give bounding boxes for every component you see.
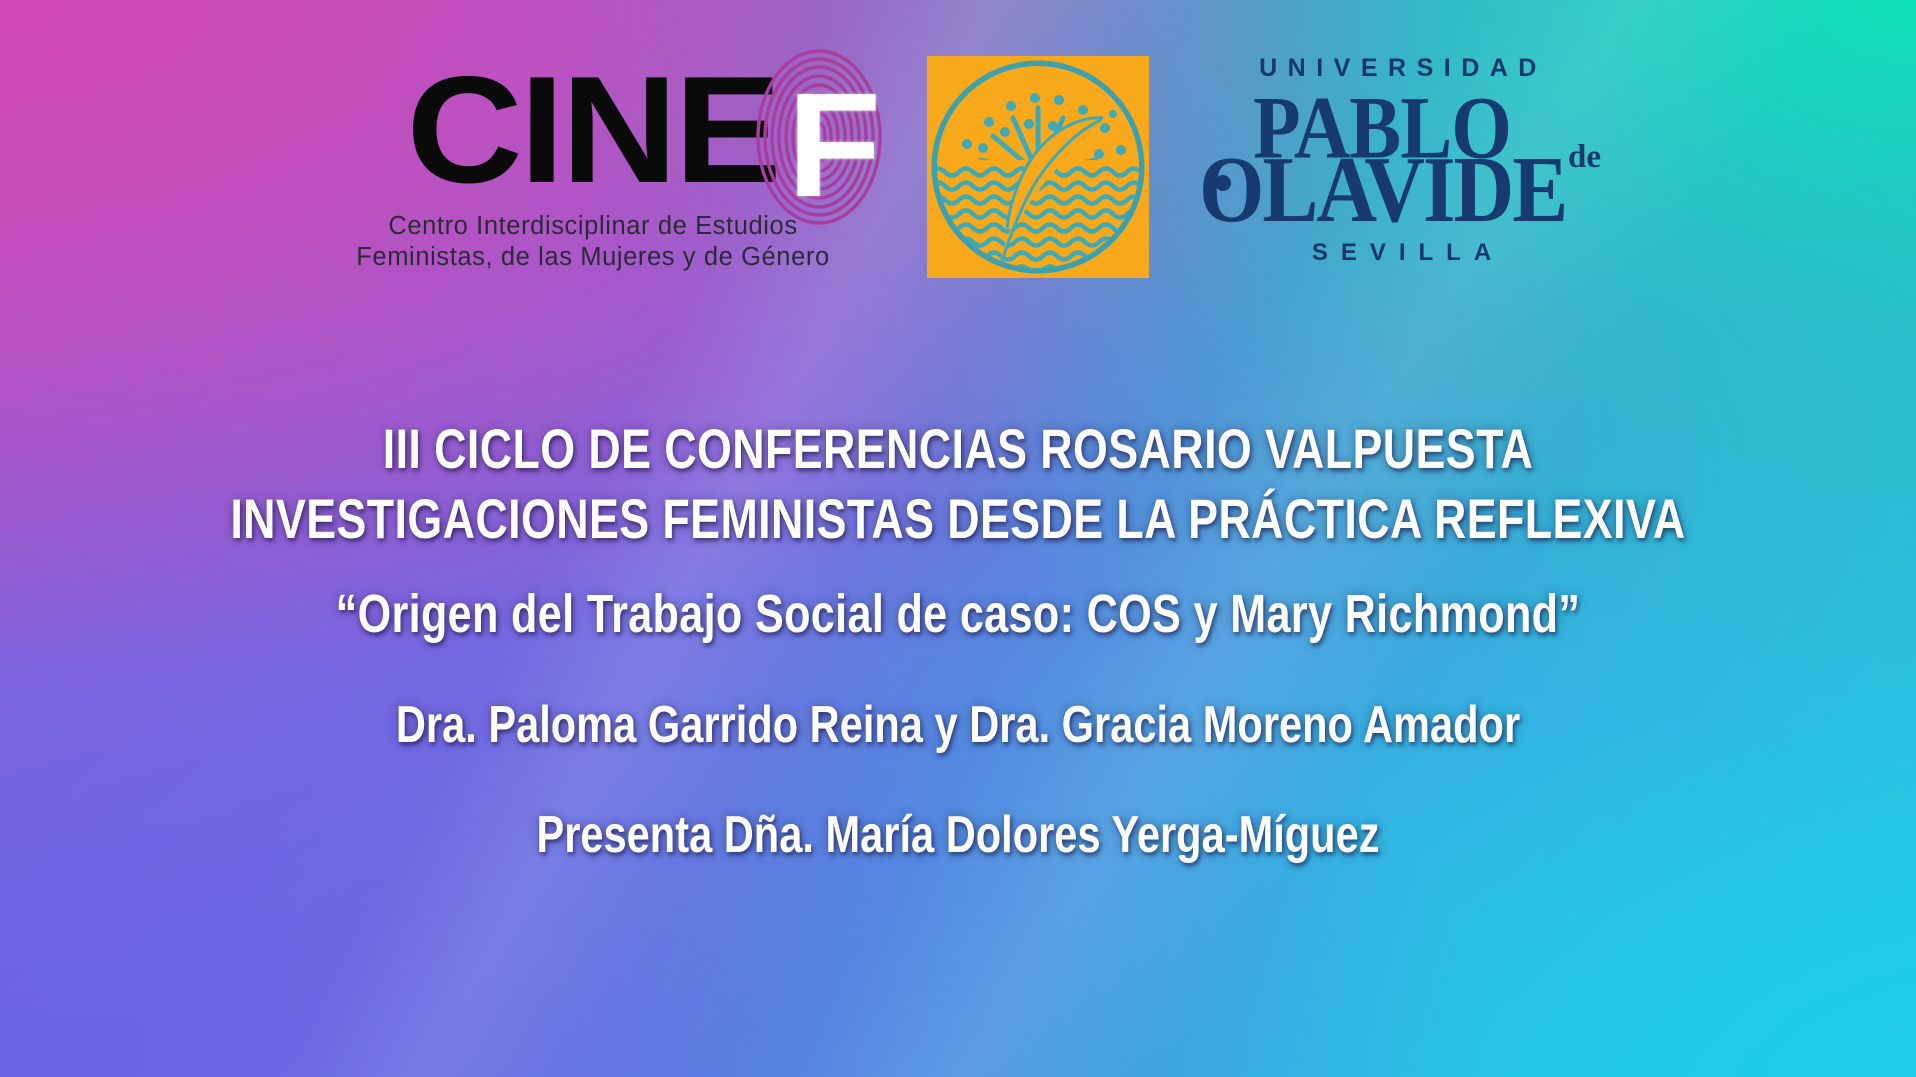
slide-text-block: III CICLO DE CONFERENCIAS ROSARIO VALPUE… — [0, 418, 1916, 864]
presenter-line: Presenta Dña. María Dolores Yerga-Míguez — [192, 806, 1725, 864]
logo-band: CINE F Cen — [0, 40, 1916, 295]
speakers-line: Dra. Paloma Garrido Reina y Dra. Gracia … — [192, 696, 1725, 754]
series-title-line-1: III CICLO DE CONFERENCIAS ROSARIO VALPUE… — [192, 418, 1725, 480]
talk-title: “Origen del Trabajo Social de caso: COS … — [192, 584, 1725, 644]
upo-de-text: de — [1568, 139, 1601, 176]
upo-olavide-text: OLAVIDE — [1199, 144, 1566, 238]
upo-name-block: PABLO de OLAVIDE — [1193, 87, 1613, 237]
upo-wordmark: UNIVERSIDAD PABLO de OLAVIDE SEVILLA — [1193, 40, 1613, 267]
upo-o-dot-icon — [1215, 175, 1231, 191]
cinef-subtitle-line-2: Feministas, de las Mujeres y de Género — [303, 242, 883, 273]
cinef-letter-f: F — [787, 72, 881, 220]
cinef-letters: CINE — [407, 54, 779, 206]
conference-title-slide: CINE F Cen — [0, 0, 1916, 1077]
cinef-logo: CINE F Cen — [303, 40, 883, 273]
series-title-line-2: INVESTIGACIONES FEMINISTAS DESDE LA PRÁC… — [192, 488, 1725, 550]
upo-sevilla-text: SEVILLA — [1193, 239, 1613, 267]
upo-sun-feather-waves-emblem — [927, 56, 1149, 278]
cinef-wordmark: CINE F — [303, 52, 883, 207]
